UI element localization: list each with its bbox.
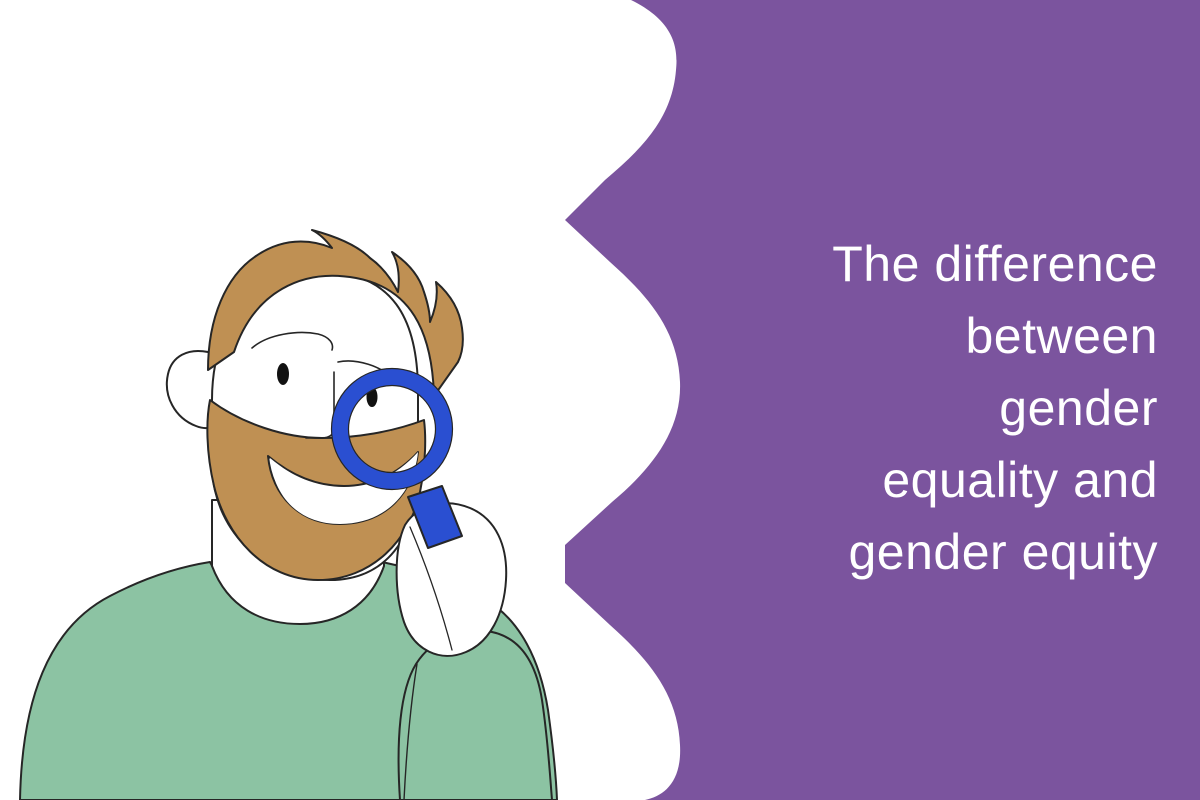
poster-canvas: The difference between gender equality a…	[0, 0, 1200, 800]
headline-block: The difference between gender equality a…	[678, 228, 1158, 588]
eye-left	[277, 363, 289, 385]
page-title: The difference between gender equality a…	[678, 228, 1158, 588]
